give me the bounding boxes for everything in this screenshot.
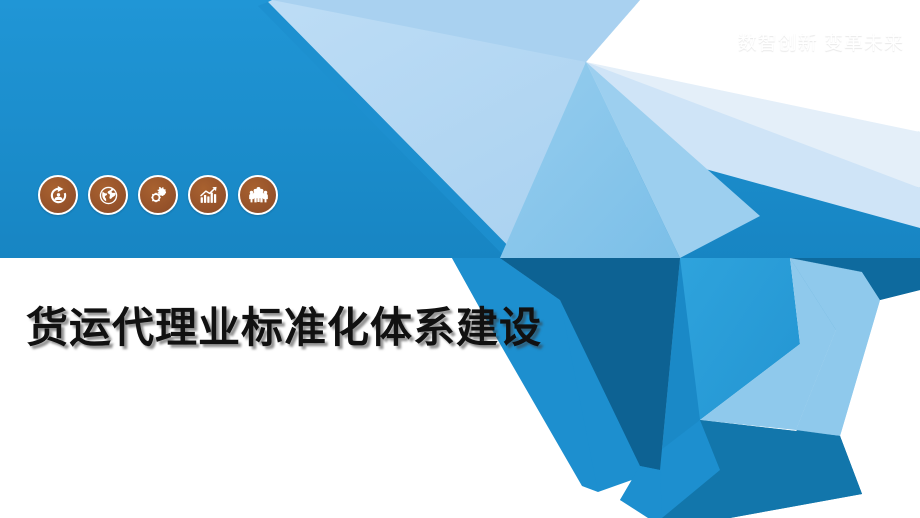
people-group-icon[interactable]	[238, 175, 278, 215]
header-slogan: 数智创新 变革未来	[738, 28, 904, 55]
globe-icon[interactable]	[88, 175, 128, 215]
page-title: 货运代理业标准化体系建设	[26, 294, 542, 355]
gears-icon[interactable]	[138, 175, 178, 215]
feature-icon-row	[38, 175, 278, 215]
refresh-cycle-icon[interactable]	[38, 175, 78, 215]
background-artwork	[0, 0, 920, 518]
slide-canvas: 数智创新 变革未来	[0, 0, 920, 518]
bar-chart-icon[interactable]	[188, 175, 228, 215]
